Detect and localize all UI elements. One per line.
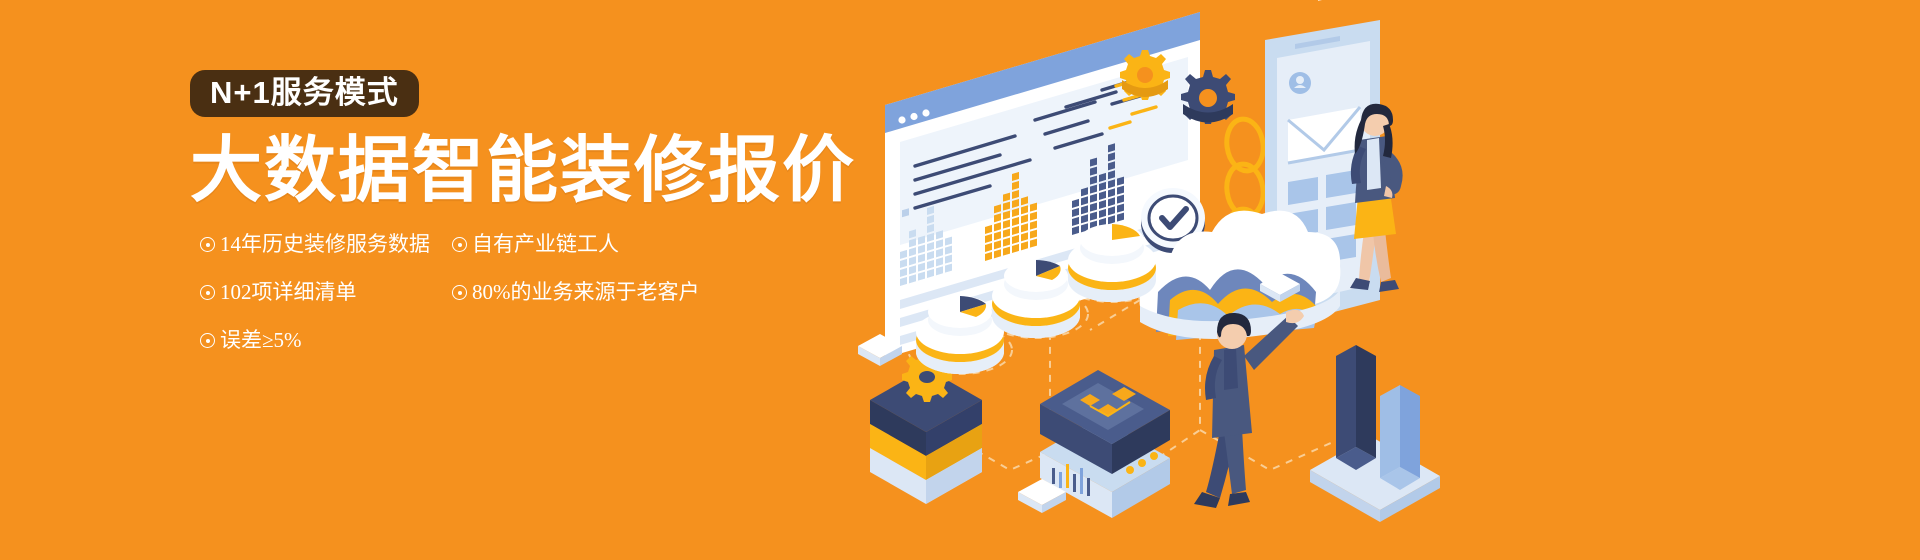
bullet-item: 14年历史装修服务数据 [200,234,450,255]
gear-navy-icon [1181,70,1235,124]
isometric-illustration [840,0,1520,560]
circled-dot-icon [452,237,467,252]
bullet-label: 自有产业链工人 [472,234,619,255]
banner-text-block: N+1服务模式 大数据智能装修报价 14年历史装修服务数据 102项详细清单 误… [190,70,830,234]
circled-dot-icon [200,285,215,300]
bullet-item: 误差≥5% [200,330,450,351]
service-mode-badge: N+1服务模式 [190,70,419,117]
circled-dot-icon [200,333,215,348]
bullet-item: 102项详细清单 [200,282,450,303]
bullet-label: 误差≥5% [220,330,302,351]
circled-dot-icon [200,237,215,252]
bullet-label: 14年历史装修服务数据 [220,234,430,255]
bullet-label: 80%的业务来源于老客户 [472,282,700,303]
man-standing [1194,310,1304,508]
bullet-item: 自有产业链工人 [452,234,712,255]
circled-dot-icon [452,285,467,300]
bullet-label: 102项详细清单 [220,282,357,303]
bullet-column-right: 自有产业链工人 80%的业务来源于老客户 [452,234,712,330]
bullet-column-left: 14年历史装修服务数据 102项详细清单 误差≥5% [200,234,450,378]
gear-yellow-icon [1120,50,1170,100]
promo-banner: N+1服务模式 大数据智能装修报价 14年历史装修服务数据 102项详细清单 误… [0,0,1920,560]
banner-headline: 大数据智能装修报价 [190,135,830,208]
bullet-item: 80%的业务来源于老客户 [452,282,712,303]
bar-columns [1310,345,1440,522]
